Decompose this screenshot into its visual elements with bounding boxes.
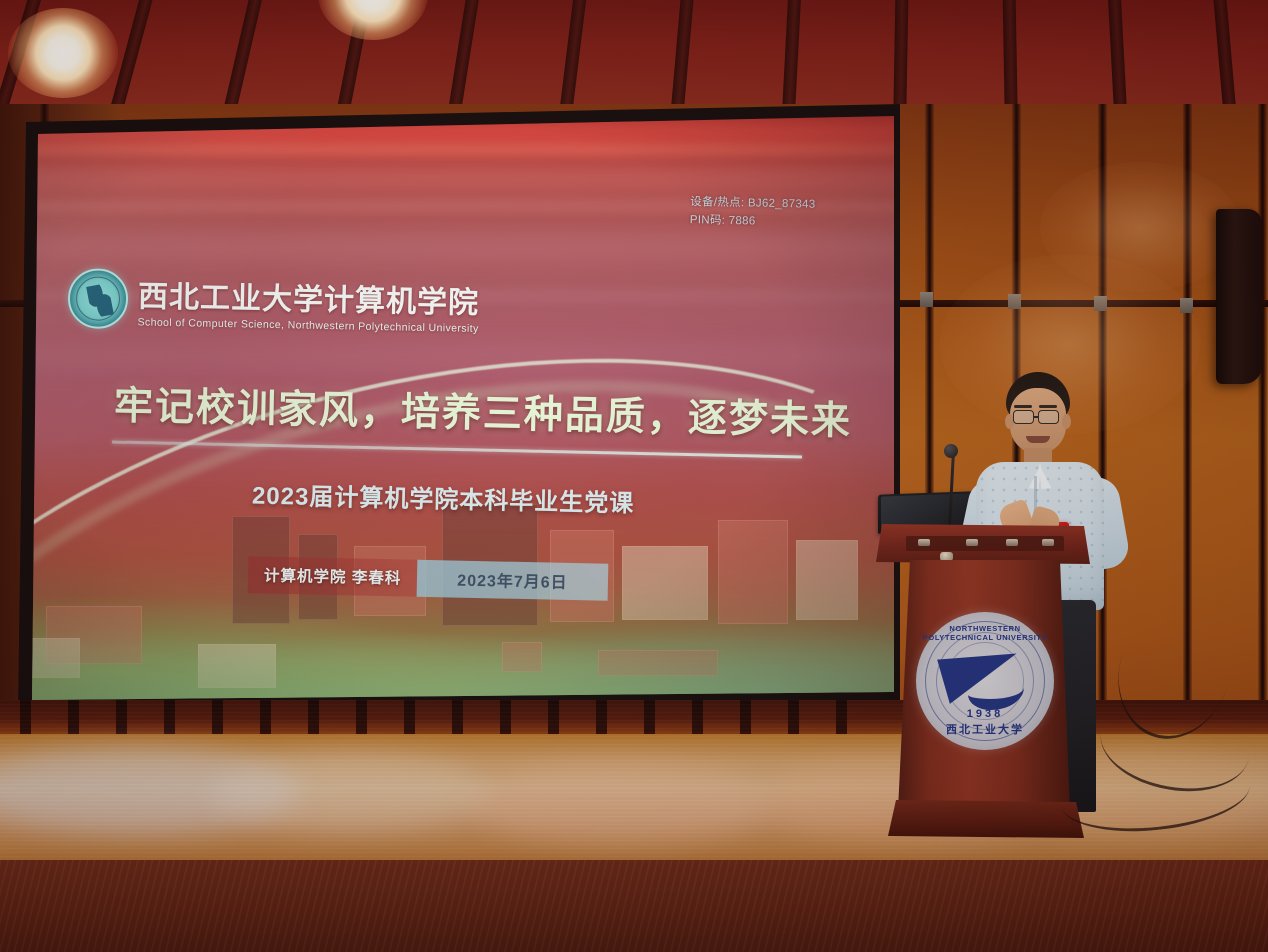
glasses-icon xyxy=(1038,410,1059,424)
slide-title: 牢记校训家风，培养三种品质，逐梦未来 xyxy=(113,375,814,446)
ceiling-light xyxy=(318,0,428,40)
glasses-icon xyxy=(1013,410,1034,424)
presenter-chip: 计算机学院 李春科 xyxy=(248,556,418,597)
stage-front-apron xyxy=(0,860,1268,952)
ceiling xyxy=(0,0,1268,118)
ceiling-light xyxy=(8,8,118,98)
projector-device-info: 设备/热点: BJ62_87343 PIN码: 7886 xyxy=(690,194,871,233)
npu-university-seal-icon: NORTHWESTERN POLYTECHNICAL UNIVERSITY 19… xyxy=(916,612,1054,750)
podium-base xyxy=(888,800,1084,838)
wall-mounted-loudspeaker xyxy=(1216,209,1262,384)
emblem-chinese-text: 西北工业大学 xyxy=(916,721,1054,737)
projection-screen: 设备/热点: BJ62_87343 PIN码: 7886 西北工业大学计算机学院… xyxy=(2,104,900,712)
emblem-year: 1938 xyxy=(916,708,1054,720)
slide-meta-row: 计算机学院 李春科 2023年7月6日 xyxy=(248,556,608,601)
school-logo: 西北工业大学计算机学院 School of Computer Science, … xyxy=(67,268,479,336)
lecture-hall-scene: 设备/热点: BJ62_87343 PIN码: 7886 西北工业大学计算机学院… xyxy=(0,0,1268,952)
emblem-english-text: NORTHWESTERN POLYTECHNICAL UNIVERSITY xyxy=(916,624,1054,642)
slide-subtitle: 2023届计算机学院本科毕业生党课 xyxy=(252,476,773,522)
date-chip: 2023年7月6日 xyxy=(417,560,608,601)
pin-code-label: PIN码: 7886 xyxy=(690,212,870,234)
microphone-head-icon xyxy=(944,444,958,458)
npu-cs-seal-icon xyxy=(67,268,128,329)
school-name-chinese: 西北工业大学计算机学院 xyxy=(138,271,480,322)
title-divider xyxy=(112,440,802,458)
